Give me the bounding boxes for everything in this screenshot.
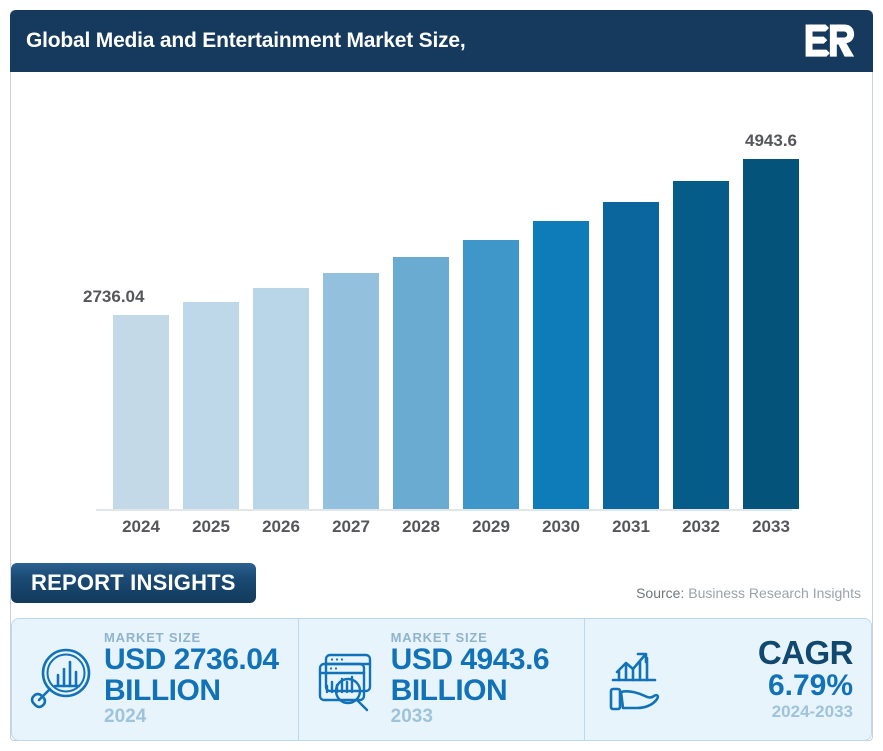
x-tick-label: 2030 — [542, 517, 580, 537]
x-tick-label: 2028 — [402, 517, 440, 537]
bar-rect — [113, 315, 169, 509]
x-tick-label: 2026 — [262, 517, 300, 537]
source-prefix: Source: — [636, 585, 684, 601]
bar-2026: 2026 — [253, 288, 309, 509]
x-tick-label: 2031 — [612, 517, 650, 537]
bar-rect — [393, 257, 449, 509]
bar-rect — [743, 159, 799, 509]
panel-text-block: MARKET SIZE USD 2736.04 BILLION 2024 — [104, 631, 279, 728]
bar-2028: 2028 — [393, 257, 449, 509]
panel-market-size-forecast-year: MARKET SIZE USD 4943.6 BILLION 2033 — [298, 619, 585, 740]
business-research-insights-logo — [803, 21, 855, 61]
panel-year: 2024 — [104, 706, 279, 728]
bar-value-label: 2736.04 — [83, 287, 144, 307]
panel-text-block: MARKET SIZE USD 4943.6 BILLION 2033 — [391, 631, 549, 728]
bar-rect — [673, 181, 729, 509]
source-name: Business Research Insights — [688, 585, 861, 601]
infographic-root: Global Media and Entertainment Market Si… — [0, 0, 883, 751]
panel-value-line2: BILLION — [104, 676, 279, 707]
x-axis-line — [96, 509, 792, 511]
bar-rect — [533, 221, 589, 509]
chart-container: 20242736.0420252026202720282029203020312… — [11, 72, 872, 555]
bar-value-label: 4943.6 — [745, 131, 797, 151]
bar-rect — [463, 240, 519, 509]
x-tick-label: 2029 — [472, 517, 510, 537]
panel-text-block: CAGR 6.79% 2024-2033 — [677, 636, 865, 722]
panel-market-size-base-year: MARKET SIZE USD 2736.04 BILLION 2024 — [12, 619, 298, 740]
magnifier-bar-chart-icon — [26, 644, 98, 716]
x-tick-label: 2033 — [752, 517, 790, 537]
cagr-value: 6.79% — [677, 669, 853, 702]
hand-growth-chart-icon — [599, 644, 671, 716]
bar-2030: 2030 — [533, 221, 589, 509]
bar-chart-plot: 20242736.0420252026202720282029203020312… — [11, 72, 872, 555]
x-tick-label: 2024 — [122, 517, 160, 537]
insight-panels: MARKET SIZE USD 2736.04 BILLION 2024 — [11, 618, 872, 741]
bar-rect — [253, 288, 309, 509]
panel-value-line1: USD 4943.6 — [391, 645, 549, 676]
x-tick-label: 2027 — [332, 517, 370, 537]
panel-year: 2033 — [391, 706, 549, 728]
bar-rect — [183, 302, 239, 509]
panel-cagr: CAGR 6.79% 2024-2033 — [584, 619, 871, 740]
panel-value-line1: USD 2736.04 — [104, 645, 279, 676]
bar-2033: 2033 — [743, 159, 799, 509]
panel-value-line2: BILLION — [391, 676, 549, 707]
cagr-title: CAGR — [677, 636, 853, 669]
bar-2027: 2027 — [323, 273, 379, 509]
x-tick-label: 2025 — [192, 517, 230, 537]
bar-rect — [323, 273, 379, 509]
report-insights-label: REPORT INSIGHTS — [31, 570, 236, 596]
x-tick-label: 2032 — [682, 517, 720, 537]
bar-2025: 2025 — [183, 302, 239, 509]
page-title: Global Media and Entertainment Market Si… — [26, 29, 466, 53]
bar-2031: 2031 — [603, 202, 659, 509]
dashboard-window-magnifier-icon — [313, 644, 385, 716]
report-insights-badge: REPORT INSIGHTS — [11, 563, 256, 603]
bar-2024: 2024 — [113, 315, 169, 509]
header-bar: Global Media and Entertainment Market Si… — [10, 10, 873, 72]
bar-2032: 2032 — [673, 181, 729, 509]
bar-rect — [603, 202, 659, 509]
bar-2029: 2029 — [463, 240, 519, 509]
cagr-range: 2024-2033 — [677, 702, 853, 722]
source-attribution: Source: Business Research Insights — [636, 585, 861, 601]
